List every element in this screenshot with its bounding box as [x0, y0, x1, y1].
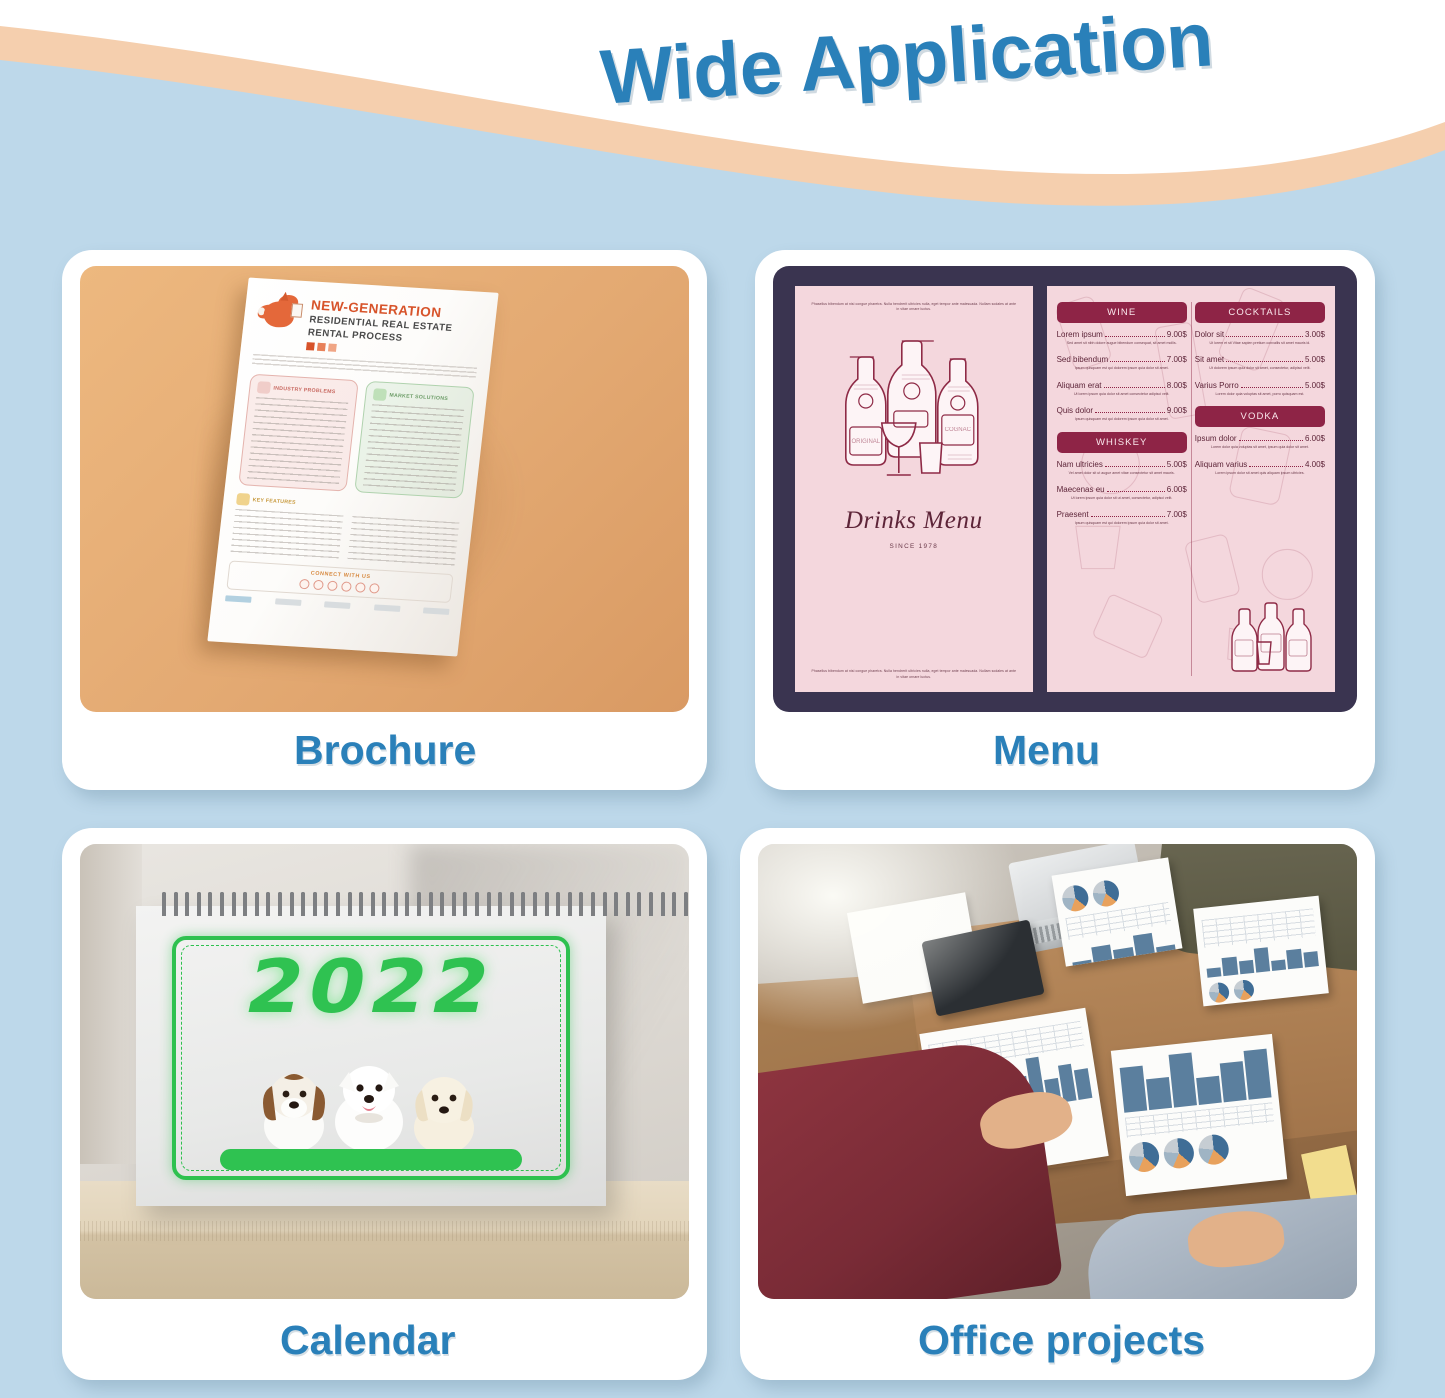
chart-document — [1052, 857, 1183, 966]
facebook-icon — [327, 580, 338, 591]
menu-image: Phasellus bibendum at nisi congue pharet… — [773, 266, 1357, 712]
infographic-page: Wide Application NEW-GENERATION — [0, 0, 1445, 1398]
card-label-menu: Menu — [755, 710, 1375, 790]
fox-mascot-icon — [255, 290, 306, 337]
page-title: Wide Application — [598, 0, 1422, 123]
menu-item: Aliquam erat8.00$Ut lorem ipsum quia dol… — [1057, 381, 1187, 397]
menu-item: Aliquam varius4.00$Lorem ipsum dolor sit… — [1195, 460, 1325, 476]
menu-cover-title: Drinks Menu — [811, 507, 1017, 535]
menu-item: Sed bibendum7.00$Ipsum quisquam est qui … — [1057, 355, 1187, 371]
brochure-problems-panel: INDUSTRY PROBLEMS — [238, 374, 359, 492]
menu-item: Dolor sit3.00$Ut lorem et sit Vitae sapi… — [1195, 330, 1325, 346]
menu-item: Nam ultricies5.00$Vel amet dolor sit ut … — [1057, 460, 1187, 476]
calendar-puppies — [254, 1056, 484, 1152]
page-title-wrapper: Wide Application — [600, 2, 1420, 132]
star-icon — [236, 493, 250, 506]
brochure-header: NEW-GENERATION RESIDENTIAL REAL ESTATE R… — [254, 290, 484, 360]
menu-item: Lorem ipsum9.00$Sed amet sit nibh dolore… — [1057, 330, 1187, 346]
menu-columns: WINE Lorem ipsum9.00$Sed amet sit nibh d… — [1057, 298, 1325, 680]
menu-column-left: WINE Lorem ipsum9.00$Sed amet sit nibh d… — [1057, 298, 1187, 680]
brochure-sheet: NEW-GENERATION RESIDENTIAL REAL ESTATE R… — [207, 278, 498, 657]
labrador-puppy — [414, 1077, 474, 1152]
twitter-icon — [313, 580, 324, 591]
youtube-icon — [341, 581, 352, 592]
question-mark-icon — [257, 381, 271, 394]
menu-item: Praesent7.00$Ipsum quisquam est qui dolo… — [1057, 510, 1187, 526]
engraved-bottles-illustration: ORIGINAL COGNAC — [811, 327, 1017, 499]
beagle-puppy — [263, 1074, 325, 1152]
menu-cover-page: Phasellus bibendum at nisi congue pharet… — [795, 286, 1033, 692]
brochure-key-features: KEY FEATURES — [230, 493, 461, 568]
menu-item: Ipsum dolor6.00$Lorem dolor quia volupta… — [1195, 434, 1325, 450]
brochure-problems-text — [247, 397, 348, 486]
menu-column-right: COCKTAILS Dolor sit3.00$Ut lorem et sit … — [1195, 298, 1325, 680]
svg-text:COGNAC: COGNAC — [945, 427, 972, 433]
menu-bottle-trio-illustration — [1229, 596, 1315, 674]
menu-price-page: WINE Lorem ipsum9.00$Sed amet sit nibh d… — [1047, 286, 1335, 692]
chart-document — [1111, 1034, 1287, 1196]
card-menu[interactable]: Phasellus bibendum at nisi congue pharet… — [755, 250, 1375, 790]
menu-category-wine: WINE — [1057, 302, 1187, 323]
calendar-year-text: 2022 — [127, 944, 615, 1030]
brochure-image: NEW-GENERATION RESIDENTIAL REAL ESTATE R… — [80, 266, 689, 712]
card-label-calendar: Calendar — [62, 1300, 707, 1380]
calendar-spiral-binding — [162, 892, 582, 918]
application-card-grid: NEW-GENERATION RESIDENTIAL REAL ESTATE R… — [0, 240, 1445, 1398]
menu-cover-top-text: Phasellus bibendum at nisi congue pharet… — [811, 302, 1017, 313]
menu-bottle-artwork: ORIGINAL COGNAC — [811, 327, 1017, 499]
card-office[interactable]: Office projects — [740, 828, 1375, 1380]
brochure-key-features-columns — [230, 509, 459, 568]
menu-column-divider — [1191, 302, 1192, 676]
brochure-problems-title: INDUSTRY PROBLEMS — [257, 381, 350, 399]
person-maroon-shirt — [758, 1035, 1064, 1299]
brochure-solutions-text — [363, 404, 464, 493]
brochure-solutions-title: MARKET SOLUTIONS — [373, 388, 466, 406]
menu-item: Maecenas eu6.00$Ut lorem ipsum quia dolo… — [1057, 485, 1187, 501]
calendar-image: 2022 — [80, 844, 689, 1299]
menu-category-vodka: VODKA — [1195, 406, 1325, 427]
puppies-illustration — [254, 1056, 484, 1152]
svg-text:ORIGINAL: ORIGINAL — [851, 439, 880, 445]
brochure-panels: INDUSTRY PROBLEMS MARKET SOLUTIONS — [238, 374, 475, 499]
brochure-solutions-panel: MARKET SOLUTIONS — [354, 381, 475, 499]
instagram-icon — [299, 579, 310, 590]
menu-item: Varius Porro5.00$Lorem dolor quia volupt… — [1195, 381, 1325, 397]
menu-pages: Phasellus bibendum at nisi congue pharet… — [795, 286, 1335, 692]
card-label-brochure: Brochure — [62, 710, 707, 790]
brochure-title-block: NEW-GENERATION RESIDENTIAL REAL ESTATE R… — [306, 293, 455, 358]
calendar-green-bar — [220, 1149, 522, 1170]
menu-item: Sit amet5.00$Ut dolorem ipsum quia dolor… — [1195, 355, 1325, 371]
office-image — [758, 844, 1357, 1299]
menu-cover-bottom-text: Phasellus bibendum at nisi congue pharet… — [811, 669, 1017, 680]
card-label-office: Office projects — [740, 1300, 1375, 1380]
card-calendar[interactable]: 2022 — [62, 828, 707, 1380]
mail-icon — [369, 583, 380, 594]
office-window-light — [758, 844, 1028, 1034]
menu-cover-since: SINCE 1978 — [811, 543, 1017, 550]
header-banner: Wide Application — [0, 0, 1445, 240]
chart-document — [1193, 896, 1329, 1007]
white-spitz-puppy — [335, 1066, 403, 1152]
card-brochure[interactable]: NEW-GENERATION RESIDENTIAL REAL ESTATE R… — [62, 250, 707, 790]
calendar-board: 2022 — [136, 906, 606, 1206]
arrow-right-icon — [373, 388, 387, 401]
menu-item: Quis dolor9.00$Ipsum quisquam est qui do… — [1057, 406, 1187, 422]
menu-category-cocktails: COCKTAILS — [1195, 302, 1325, 323]
menu-category-whiskey: WHISKEY — [1057, 432, 1187, 453]
linkedin-icon — [355, 582, 366, 593]
